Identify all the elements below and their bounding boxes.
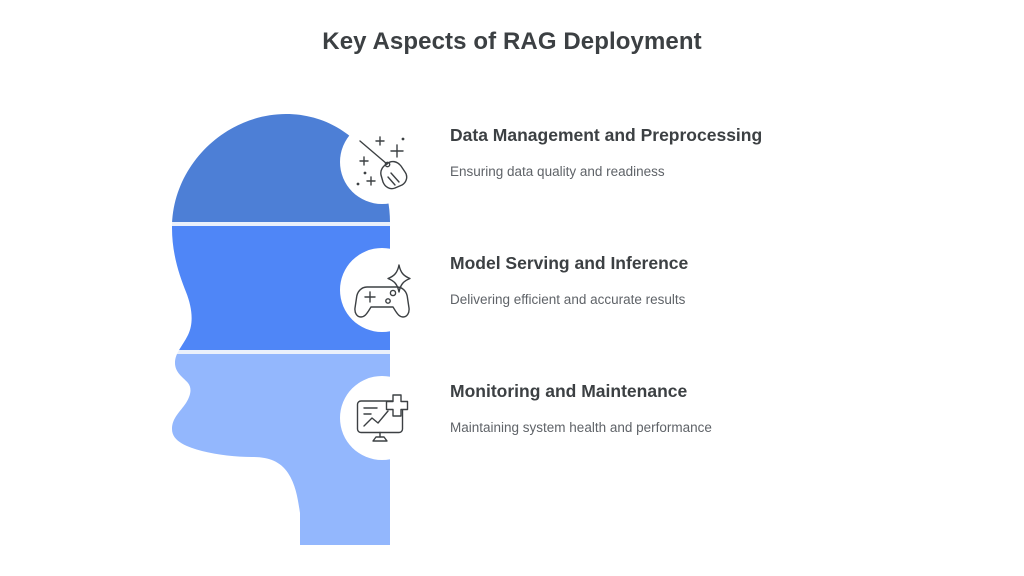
game-controller-sparkle-icon <box>340 248 424 332</box>
broom-sparkle-icon <box>340 120 424 204</box>
page-title: Key Aspects of RAG Deployment <box>0 28 1024 56</box>
list-item-text: Model Serving and Inference Delivering e… <box>450 253 900 308</box>
list-item: Monitoring and Maintenance Maintaining s… <box>340 376 900 472</box>
head-band-divider-2 <box>150 350 420 354</box>
list-item-text: Data Management and Preprocessing Ensuri… <box>450 125 900 180</box>
list-item-title: Model Serving and Inference <box>450 253 900 275</box>
list-item-description: Ensuring data quality and readiness <box>450 163 900 181</box>
list-item-title: Monitoring and Maintenance <box>450 381 900 403</box>
list-item-description: Delivering efficient and accurate result… <box>450 291 900 309</box>
list-item-text: Monitoring and Maintenance Maintaining s… <box>450 381 900 436</box>
monitor-health-chart-icon <box>340 376 424 460</box>
head-band-divider-1 <box>150 222 420 226</box>
list-item: Model Serving and Inference Delivering e… <box>340 248 900 344</box>
list-item: Data Management and Preprocessing Ensuri… <box>340 120 900 216</box>
slide-canvas: Key Aspects of RAG Deployment <box>0 0 1024 576</box>
list-item-title: Data Management and Preprocessing <box>450 125 900 147</box>
list-item-description: Maintaining system health and performanc… <box>450 419 900 437</box>
